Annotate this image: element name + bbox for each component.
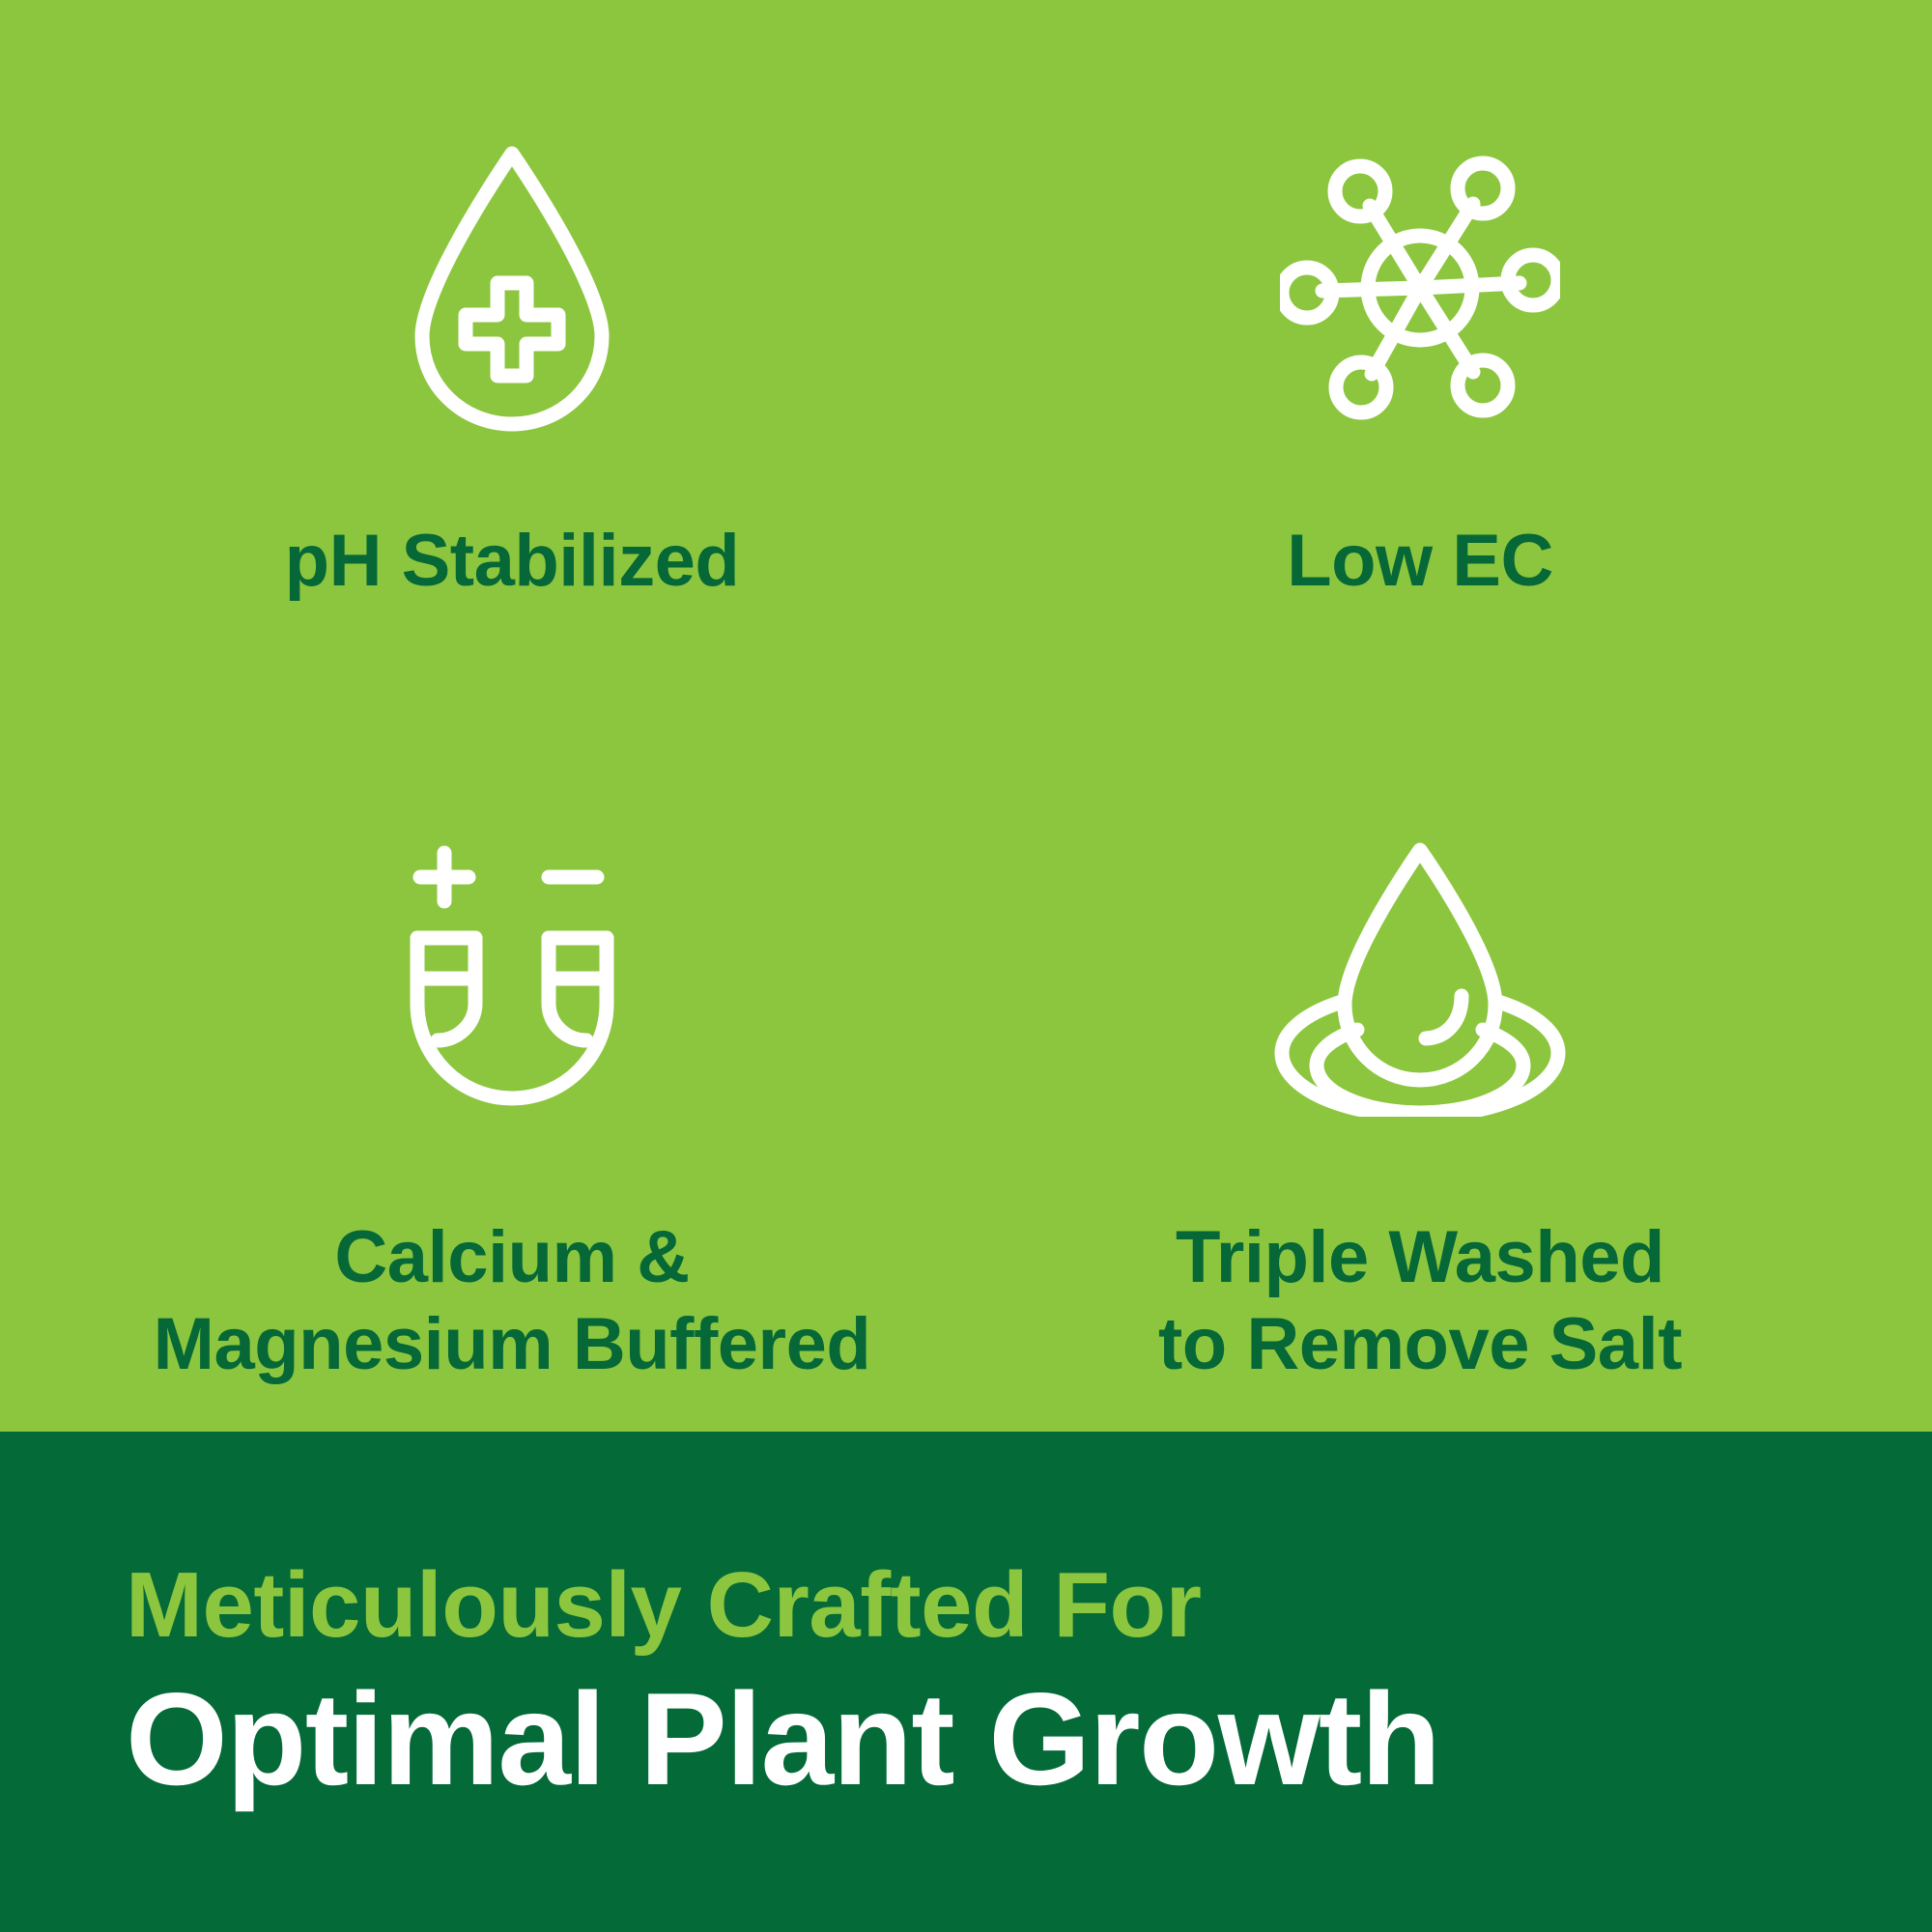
product-feature-poster: pH Stabilized [0, 0, 1932, 1932]
water-drop-ripple-icon [1265, 803, 1575, 1151]
feature-label: Low EC [1287, 518, 1553, 605]
water-drop-plus-icon [401, 108, 623, 468]
molecule-network-icon [1280, 108, 1560, 468]
feature-label: pH Stabilized [285, 518, 740, 605]
banner-headline: Optimal Plant Growth [126, 1673, 1932, 1804]
feature-triple-washed: Triple Washed to Remove Salt [966, 770, 1874, 1432]
bottom-banner: Meticulously Crafted For Optimal Plant G… [0, 1432, 1932, 1932]
feature-label: Triple Washed to Remove Salt [1158, 1214, 1682, 1387]
banner-kicker: Meticulously Crafted For [126, 1559, 1932, 1652]
feature-ph-stabilized: pH Stabilized [58, 108, 966, 770]
horseshoe-magnet-icon [396, 803, 628, 1151]
features-grid: pH Stabilized [0, 0, 1932, 1432]
feature-label: Calcium & Magnesium Buffered [154, 1214, 871, 1387]
feature-calcium-magnesium-buffered: Calcium & Magnesium Buffered [58, 770, 966, 1432]
feature-low-ec: Low EC [966, 108, 1874, 770]
